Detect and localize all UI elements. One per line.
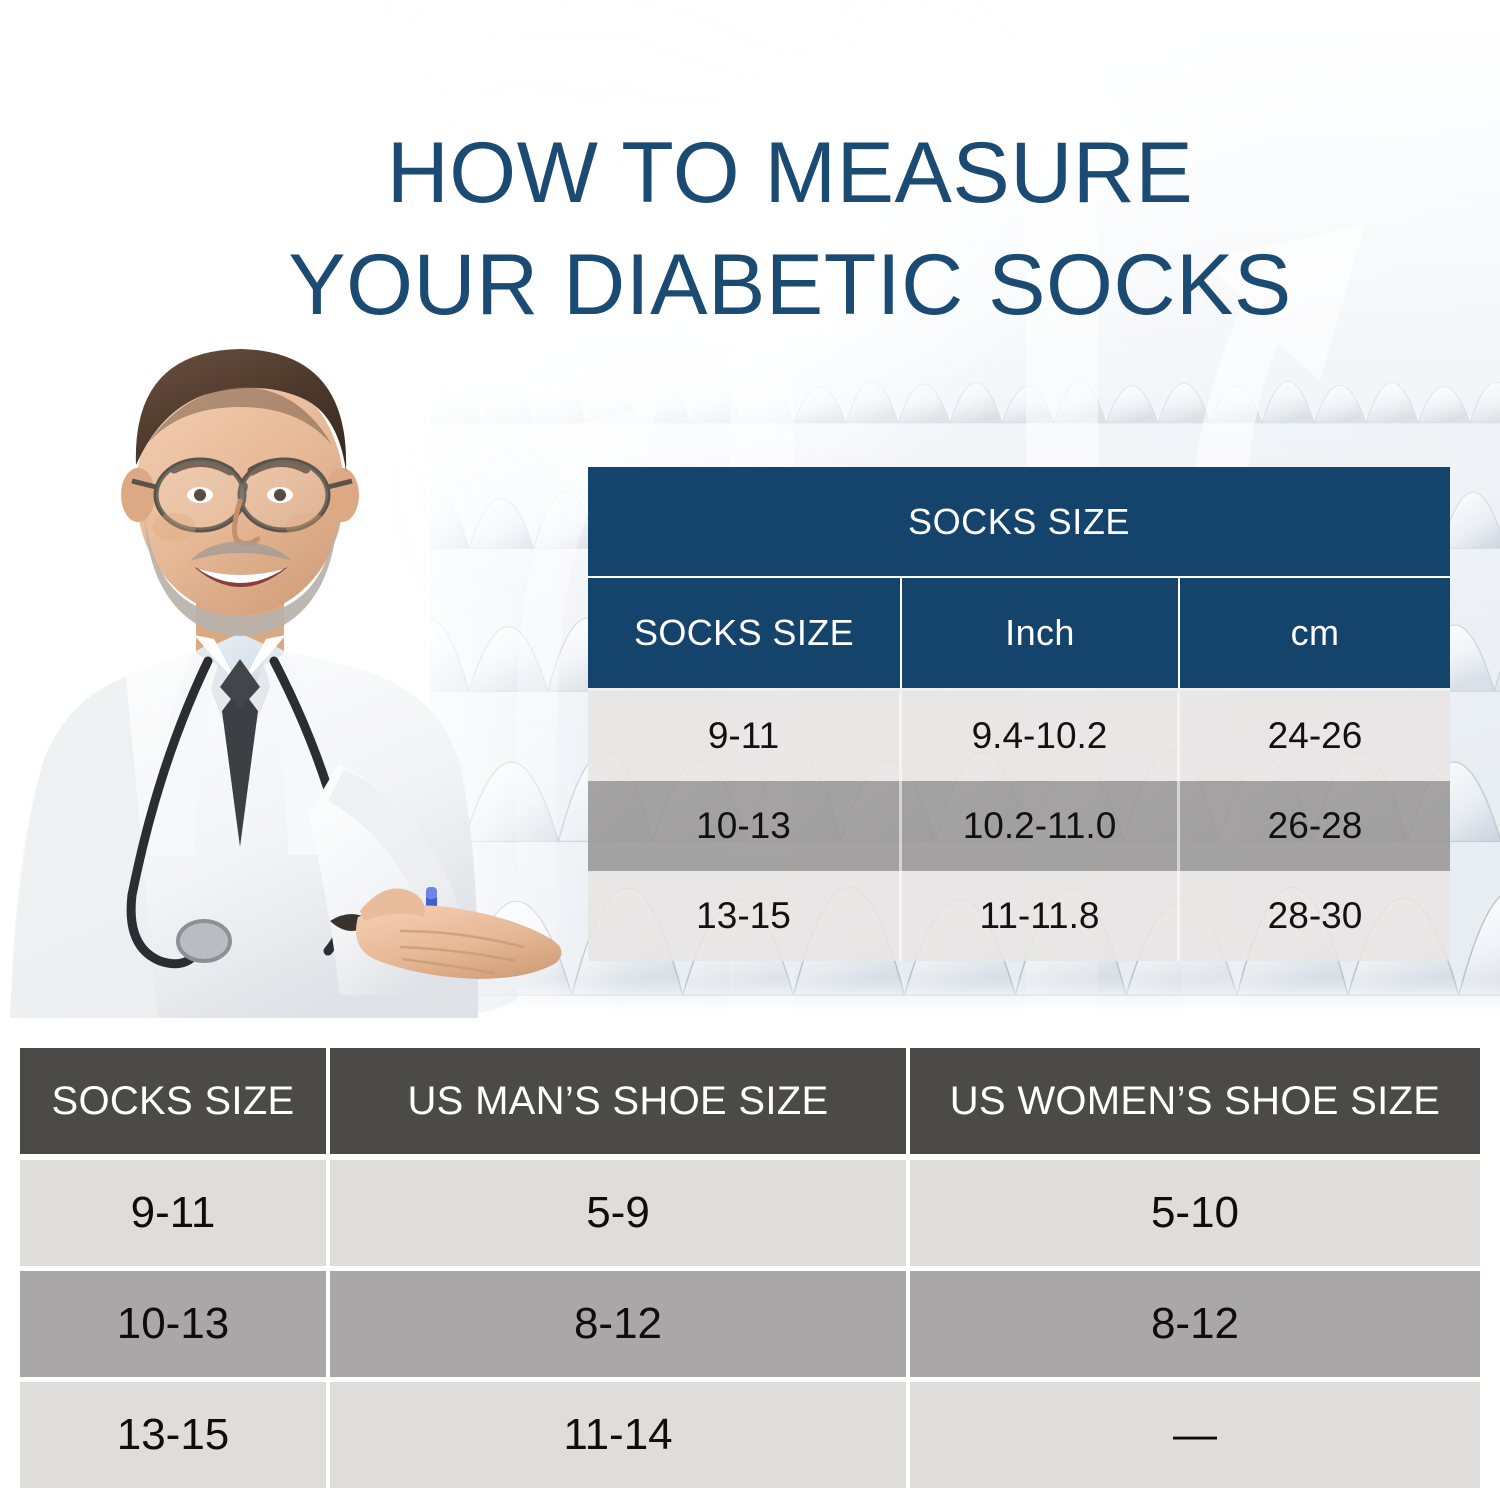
page-title: HOW TO MEASURE YOUR DIABETIC SOCKS bbox=[120, 118, 1460, 342]
doctor-photo bbox=[8, 295, 608, 1018]
shoe-size-conversion-table: SOCKS SIZE US MAN’S SHOE SIZE US WOMEN’S… bbox=[20, 1048, 1480, 1488]
table2-col-womens-shoe: US WOMEN’S SHOE SIZE bbox=[910, 1048, 1480, 1160]
table2-cell: 9-11 bbox=[20, 1160, 330, 1271]
table-row: 9-11 9.4-10.2 24-26 bbox=[588, 688, 1450, 781]
table2-header-row: SOCKS SIZE US MAN’S SHOE SIZE US WOMEN’S… bbox=[20, 1048, 1480, 1160]
table2-cell: 11-14 bbox=[330, 1382, 910, 1488]
table-row: 13-15 11-14 — bbox=[20, 1382, 1480, 1488]
table-row: 9-11 5-9 5-10 bbox=[20, 1160, 1480, 1271]
table1-cell: 10.2-11.0 bbox=[902, 781, 1180, 871]
table1-cell: 24-26 bbox=[1180, 688, 1450, 781]
table1-col-inch: Inch bbox=[902, 578, 1180, 688]
table1-banner-row: SOCKS SIZE bbox=[588, 467, 1450, 578]
table-row: 10-13 10.2-11.0 26-28 bbox=[588, 781, 1450, 871]
table1-col-cm: cm bbox=[1180, 578, 1450, 688]
table1-col-socks-size: SOCKS SIZE bbox=[588, 578, 902, 688]
table1-cell: 9-11 bbox=[588, 688, 902, 781]
table2-cell: 8-12 bbox=[330, 1271, 910, 1382]
socks-size-measurement-table: SOCKS SIZE SOCKS SIZE Inch cm 9-11 9.4-1… bbox=[588, 467, 1450, 961]
table-row: 13-15 11-11.8 28-30 bbox=[588, 871, 1450, 961]
table1-cell: 10-13 bbox=[588, 781, 902, 871]
table2-cell: 10-13 bbox=[20, 1271, 330, 1382]
table1-cell: 28-30 bbox=[1180, 871, 1450, 961]
table1-cell: 26-28 bbox=[1180, 781, 1450, 871]
table1-cell: 9.4-10.2 bbox=[902, 688, 1180, 781]
table2-cell: 5-9 bbox=[330, 1160, 910, 1271]
table1-cell: 11-11.8 bbox=[902, 871, 1180, 961]
table2-cell: 13-15 bbox=[20, 1382, 330, 1488]
table2-col-mens-shoe: US MAN’S SHOE SIZE bbox=[330, 1048, 910, 1160]
table2-cell: 8-12 bbox=[910, 1271, 1480, 1382]
table2-cell: — bbox=[910, 1382, 1480, 1488]
table2-cell: 5-10 bbox=[910, 1160, 1480, 1271]
table1-cell: 13-15 bbox=[588, 871, 902, 961]
table2-col-socks-size: SOCKS SIZE bbox=[20, 1048, 330, 1160]
table1-header-row: SOCKS SIZE Inch cm bbox=[588, 578, 1450, 688]
table-row: 10-13 8-12 8-12 bbox=[20, 1271, 1480, 1382]
table1-banner: SOCKS SIZE bbox=[588, 467, 1450, 578]
